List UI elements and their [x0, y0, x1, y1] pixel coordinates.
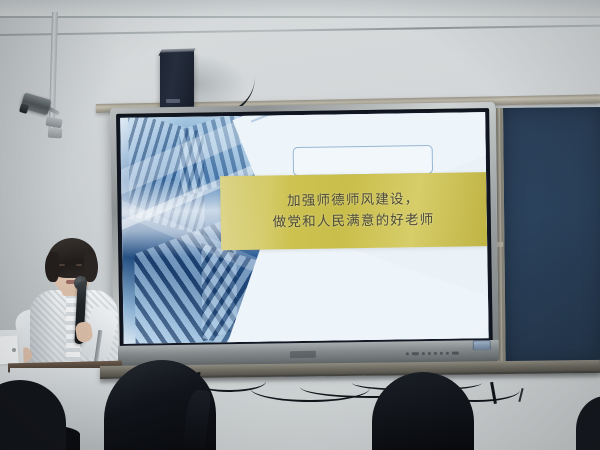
- display-button-vol-up[interactable]: [434, 352, 437, 355]
- podium-knob: [12, 348, 16, 352]
- display-button-source[interactable]: [422, 352, 425, 355]
- display-control-buttons[interactable]: [406, 352, 459, 356]
- slide-banner-line-2: 做党和人民满意的好老师: [273, 210, 435, 233]
- presenter-eye-left: [59, 264, 65, 266]
- presenter-hair-right: [84, 252, 98, 282]
- display-screen[interactable]: 加强师德师风建设， 做党和人民满意的好老师: [120, 112, 489, 344]
- display-brand-logo: [290, 351, 316, 358]
- photo-scene: 加强师德师风建设， 做党和人民满意的好老师: [0, 0, 600, 450]
- interactive-flat-panel-display[interactable]: 加强师德师风建设， 做党和人民满意的好老师: [110, 102, 499, 368]
- slide-banner-line-1: 加强师德师风建设，: [287, 189, 420, 212]
- speaker-logo: [166, 99, 180, 103]
- display-button-menu[interactable]: [412, 352, 419, 355]
- presenter-eye-right: [76, 264, 82, 266]
- display-power-indicator: [473, 340, 491, 350]
- display-button-back[interactable]: [446, 352, 449, 355]
- chalkboard-panel: [500, 107, 600, 368]
- display-ir-receiver: [452, 352, 459, 355]
- slide-title-banner: 加强师德师风建设， 做党和人民满意的好老师: [220, 172, 488, 251]
- presenter-hair-left: [45, 252, 59, 282]
- ceiling-seam: [0, 16, 600, 18]
- display-button-home[interactable]: [440, 352, 443, 355]
- display-button-power[interactable]: [406, 352, 409, 355]
- slide-title-placeholder-box[interactable]: [292, 145, 433, 176]
- presenter-right-hand: [75, 321, 94, 343]
- display-button-vol-down[interactable]: [428, 352, 431, 355]
- presentation-slide: 加强师德师风建设， 做党和人民满意的好老师: [120, 112, 489, 344]
- ceiling-pole-base: [48, 128, 63, 139]
